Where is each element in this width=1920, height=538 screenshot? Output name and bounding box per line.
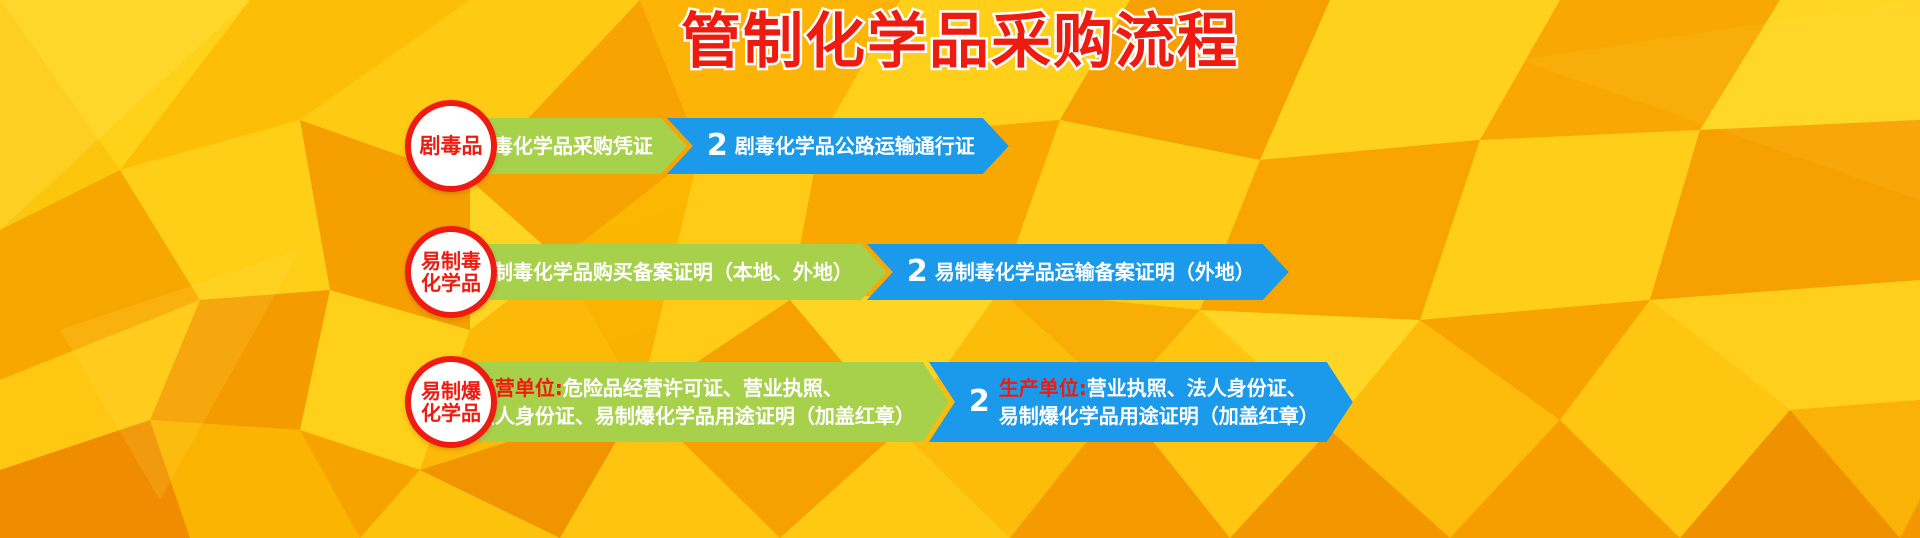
step-text-line-1: 生产单位:营业执照、法人身份证、 <box>999 374 1319 402</box>
process-row-1: 剧毒品 1 剧毒化学品采购凭证 2 剧毒化学品公路运输通行证 <box>0 96 1920 196</box>
step-arrows-row-2: 1 易制毒化学品购买备案证明（本地、外地） 2 易制毒化学品运输备案证明（外地） <box>425 222 1289 322</box>
title-container: 管制化学品采购流程 <box>0 8 1920 77</box>
step-text: 易制毒化学品购买备案证明（本地、外地） <box>473 258 853 286</box>
process-rows: 剧毒品 1 剧毒化学品采购凭证 2 剧毒化学品公路运输通行证 易制毒 化学品 <box>0 96 1920 482</box>
step-number: 2 <box>707 131 728 161</box>
step-text: 剧毒化学品采购凭证 <box>473 132 653 160</box>
step-text-line-2: 法人身份证、易制爆化学品用途证明（加盖红章） <box>475 402 915 430</box>
process-row-3: 易制爆 化学品 1 经营单位:危险品经营许可证、营业执照、 法人身份证、易制爆化… <box>0 348 1920 456</box>
step-text-line-1: 经营单位:危险品经营许可证、营业执照、 <box>475 374 915 402</box>
step-text: 危险品经营许可证、营业执照、 <box>563 376 843 400</box>
page-title: 管制化学品采购流程 <box>681 8 1239 77</box>
step-text: 剧毒化学品公路运输通行证 <box>735 132 975 160</box>
step-lead-label: 生产单位: <box>999 376 1087 400</box>
step-arrows-row-1: 1 剧毒化学品采购凭证 2 剧毒化学品公路运输通行证 <box>425 96 1009 196</box>
step-arrow-3-2[interactable]: 2 生产单位:营业执照、法人身份证、 易制爆化学品用途证明（加盖红章） <box>929 362 1353 442</box>
step-number: 2 <box>969 387 990 417</box>
step-text-line-2: 易制爆化学品用途证明（加盖红章） <box>999 402 1319 430</box>
step-arrow-1-2[interactable]: 2 剧毒化学品公路运输通行证 <box>667 118 1009 174</box>
category-badge-label: 剧毒品 <box>420 135 483 157</box>
category-badge-label: 易制爆 化学品 <box>421 380 481 425</box>
step-text: 营业执照、法人身份证、 <box>1087 376 1307 400</box>
step-arrows-row-3: 1 经营单位:危险品经营许可证、营业执照、 法人身份证、易制爆化学品用途证明（加… <box>425 348 1353 456</box>
category-badge-explosive[interactable]: 易制爆 化学品 <box>405 356 497 448</box>
step-arrow-3-1[interactable]: 1 经营单位:危险品经营许可证、营业执照、 法人身份证、易制爆化学品用途证明（加… <box>425 362 949 442</box>
step-number: 2 <box>907 257 928 287</box>
step-text: 易制毒化学品运输备案证明（外地） <box>935 258 1255 286</box>
category-badge-toxic[interactable]: 剧毒品 <box>405 100 497 192</box>
step-arrow-2-2[interactable]: 2 易制毒化学品运输备案证明（外地） <box>867 244 1289 300</box>
category-badge-label: 易制毒 化学品 <box>421 250 481 295</box>
process-row-2: 易制毒 化学品 1 易制毒化学品购买备案证明（本地、外地） 2 易制毒化学品运输… <box>0 222 1920 322</box>
category-badge-precursor[interactable]: 易制毒 化学品 <box>405 226 497 318</box>
